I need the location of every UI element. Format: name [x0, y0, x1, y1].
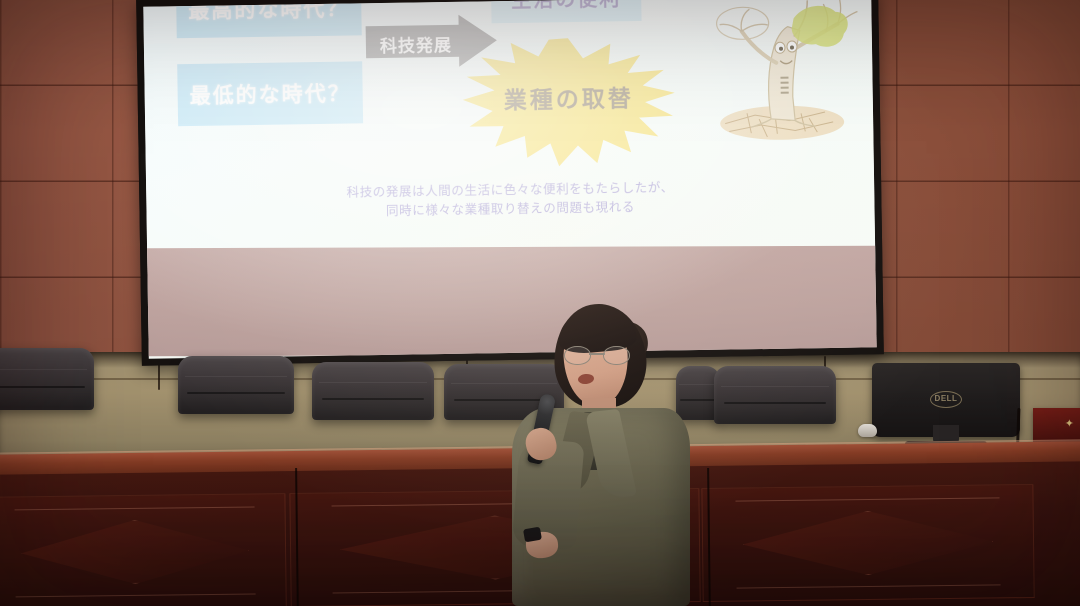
slide-box-best-era: 最高的な時代？: [176, 0, 362, 38]
emblem-icon: ✦: [1065, 417, 1074, 430]
dell-monitor[interactable]: DELL: [872, 363, 1020, 445]
photo-scene: 最高的な時代？ 最低的な時代？ 科技発展 生活の便利 業種の取替: [0, 0, 1080, 606]
glasses-lens-right: [603, 346, 630, 365]
slide-box-worst-era: 最低的な時代？: [177, 61, 363, 126]
dell-logo: DELL: [930, 391, 962, 408]
slide-caption: 科技の発展は人間の生活に色々な便利をもたらしたが、 同時に様々な業種取り替えの問…: [146, 175, 875, 225]
chair-seam: [0, 369, 87, 370]
glasses-lens-left: [564, 346, 591, 365]
desk-panel: [701, 484, 1034, 602]
desk-diamond-inlay: [21, 519, 250, 586]
slide-starburst-label: 業種の取替: [462, 78, 675, 115]
chair-seam: [721, 386, 828, 387]
presenter: [498, 300, 713, 606]
chair: [0, 348, 94, 410]
computer-mouse[interactable]: [858, 424, 877, 437]
slide-starburst: 業種の取替: [462, 36, 676, 167]
chair: [312, 362, 434, 420]
desk-diamond-inlay: [742, 509, 994, 576]
chair-seam: [319, 382, 426, 383]
chair-seam: [185, 376, 287, 377]
slide-box-convenience: 生活の便利: [491, 0, 642, 23]
cartoon-tree-illustration: [695, 0, 867, 152]
glasses-icon: [564, 346, 630, 364]
desk-panel: [0, 493, 287, 606]
presentation-slide: 最高的な時代？ 最低的な時代？ 科技発展 生活の便利 業種の取替: [143, 0, 875, 275]
chair: [178, 356, 294, 414]
chair: [714, 366, 836, 424]
slide-arrow-label: 科技発展: [370, 31, 462, 57]
